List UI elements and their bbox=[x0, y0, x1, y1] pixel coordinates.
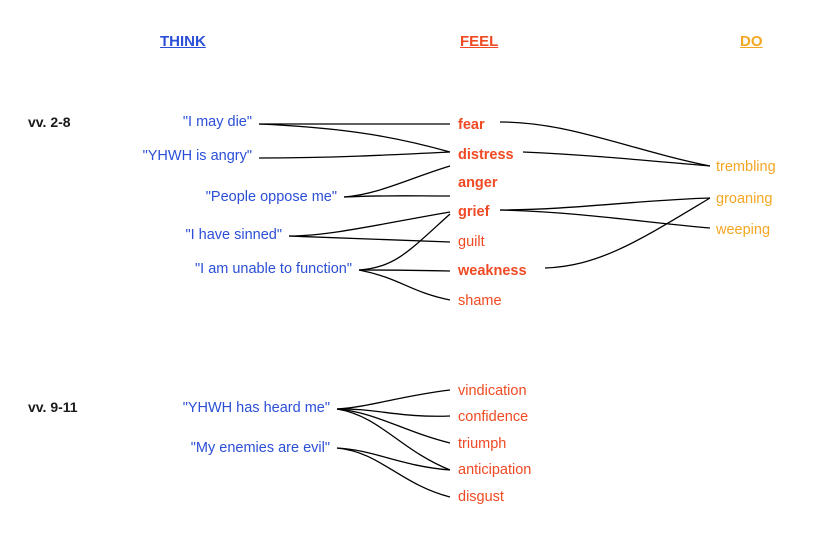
feel-node: shame bbox=[458, 293, 502, 309]
diagram-canvas: THINKFEELDO vv. 2-8"I may die""YHWH is a… bbox=[0, 0, 825, 539]
link-path bbox=[337, 390, 450, 409]
column-header-feel: FEEL bbox=[460, 33, 498, 50]
think-node: "YHWH is angry" bbox=[0, 148, 252, 164]
link-path bbox=[500, 122, 710, 166]
link-path bbox=[337, 409, 450, 416]
feel-node: vindication bbox=[458, 383, 527, 399]
feel-node: distress bbox=[458, 147, 514, 163]
feel-node: grief bbox=[458, 204, 489, 220]
feel-node: fear bbox=[458, 117, 485, 133]
think-node: "I have sinned" bbox=[0, 227, 282, 243]
link-path bbox=[259, 152, 450, 158]
feel-node: anticipation bbox=[458, 462, 531, 478]
do-node: weeping bbox=[716, 222, 770, 238]
link-path bbox=[359, 214, 450, 270]
think-node: "I may die" bbox=[0, 114, 252, 130]
feel-node: triumph bbox=[458, 436, 506, 452]
link-path bbox=[289, 212, 450, 236]
feel-node: confidence bbox=[458, 409, 528, 425]
link-path bbox=[359, 270, 450, 271]
link-path bbox=[344, 166, 450, 197]
link-path bbox=[337, 448, 450, 470]
do-node: trembling bbox=[716, 159, 776, 175]
feel-node: guilt bbox=[458, 234, 485, 250]
link-path bbox=[337, 448, 450, 497]
link-path bbox=[259, 124, 450, 152]
link-path bbox=[523, 152, 710, 166]
link-path bbox=[500, 210, 710, 228]
think-node: "YHWH has heard me" bbox=[0, 400, 330, 416]
think-node: "My enemies are evil" bbox=[0, 440, 330, 456]
link-path bbox=[337, 409, 450, 470]
think-node: "I am unable to function" bbox=[0, 261, 352, 277]
link-path bbox=[359, 270, 450, 300]
column-header-do: DO bbox=[740, 33, 763, 50]
feel-node: weakness bbox=[458, 263, 527, 279]
link-path bbox=[289, 236, 450, 242]
link-path bbox=[344, 196, 450, 197]
link-path bbox=[337, 409, 450, 443]
feel-node: anger bbox=[458, 175, 498, 191]
think-node: "People oppose me" bbox=[0, 189, 337, 205]
link-path bbox=[500, 198, 710, 210]
feel-node: disgust bbox=[458, 489, 504, 505]
link-path bbox=[545, 198, 710, 268]
do-node: groaning bbox=[716, 191, 772, 207]
column-header-think: THINK bbox=[160, 33, 206, 50]
